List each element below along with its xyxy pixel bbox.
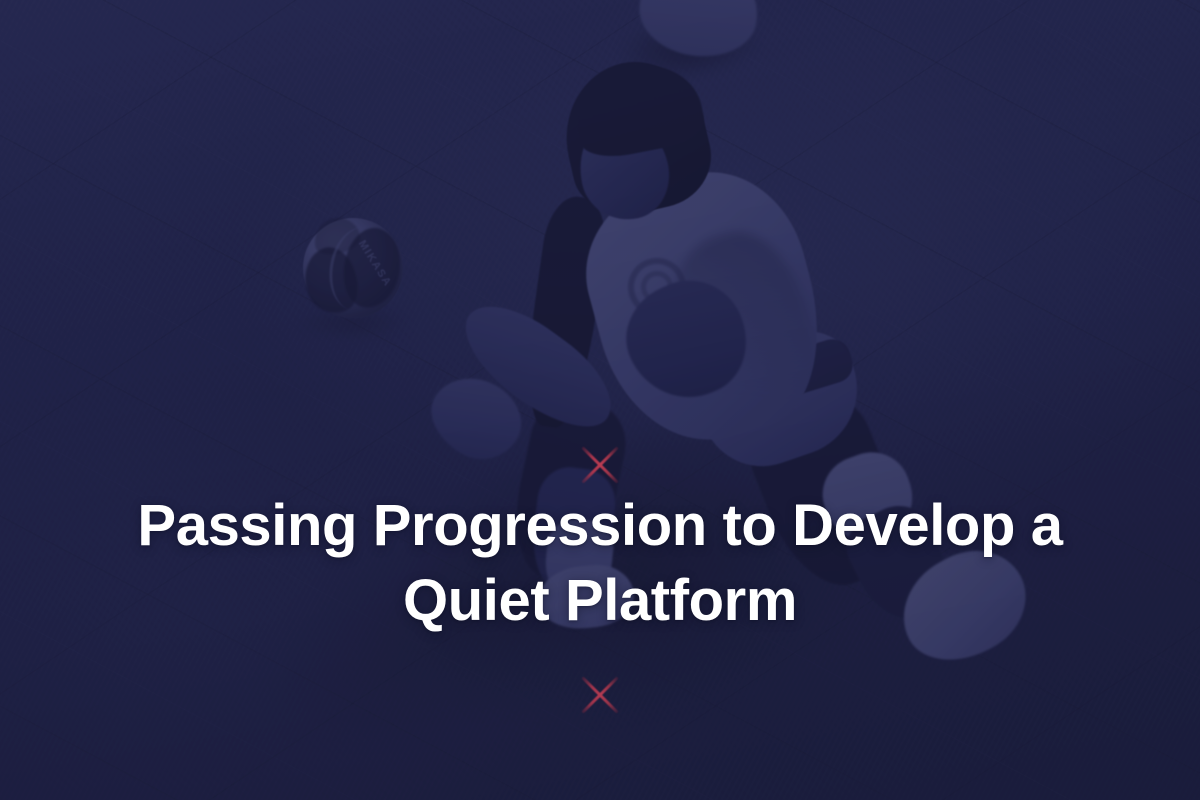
navy-tint-overlay xyxy=(0,0,1200,800)
page-title: Passing Progression to Develop a Quiet P… xyxy=(90,488,1110,639)
hero-banner: DALL MIKASA Passing Progression to Devel… xyxy=(0,0,1200,800)
headline-container: Passing Progression to Develop a Quiet P… xyxy=(0,488,1200,639)
